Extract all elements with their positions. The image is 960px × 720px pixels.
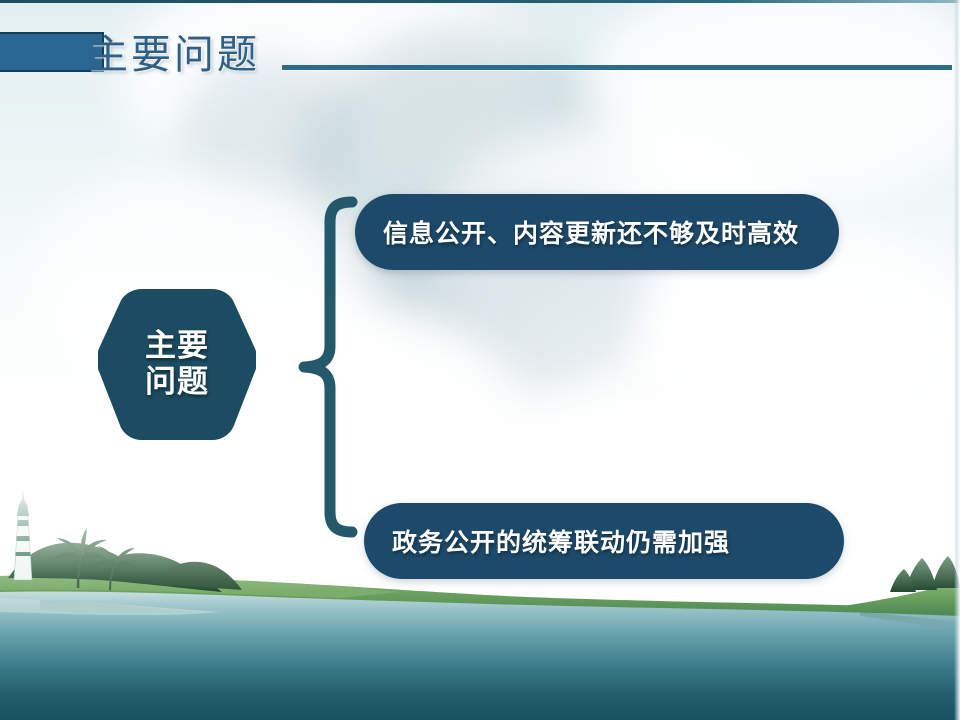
title-underline <box>282 65 952 70</box>
branch-pill-1-label: 信息公开、内容更新还不够及时高效 <box>383 214 799 250</box>
branch-pill-2[interactable]: 政务公开的统筹联动仍需加强 <box>364 503 844 579</box>
cloud-shape <box>180 60 360 210</box>
branch-pill-2-label: 政务公开的统筹联动仍需加强 <box>392 523 730 559</box>
top-accent-strip <box>0 0 960 3</box>
right-edge-border <box>954 0 960 720</box>
diagram-root-hexagon[interactable]: 主要 问题 <box>98 288 256 440</box>
cloud-shape <box>120 0 540 190</box>
branch-pill-1[interactable]: 信息公开、内容更新还不够及时高效 <box>355 194 839 270</box>
curly-brace-connector <box>296 196 358 538</box>
hexagon-shape <box>98 288 256 440</box>
cloud-shape <box>590 0 960 200</box>
slide-canvas: 主要问题 主要 问题 信息公开、内容更新还不够及时高效 政务公开的统筹联动仍需加… <box>0 0 960 720</box>
page-title: 主要问题 <box>88 33 260 77</box>
